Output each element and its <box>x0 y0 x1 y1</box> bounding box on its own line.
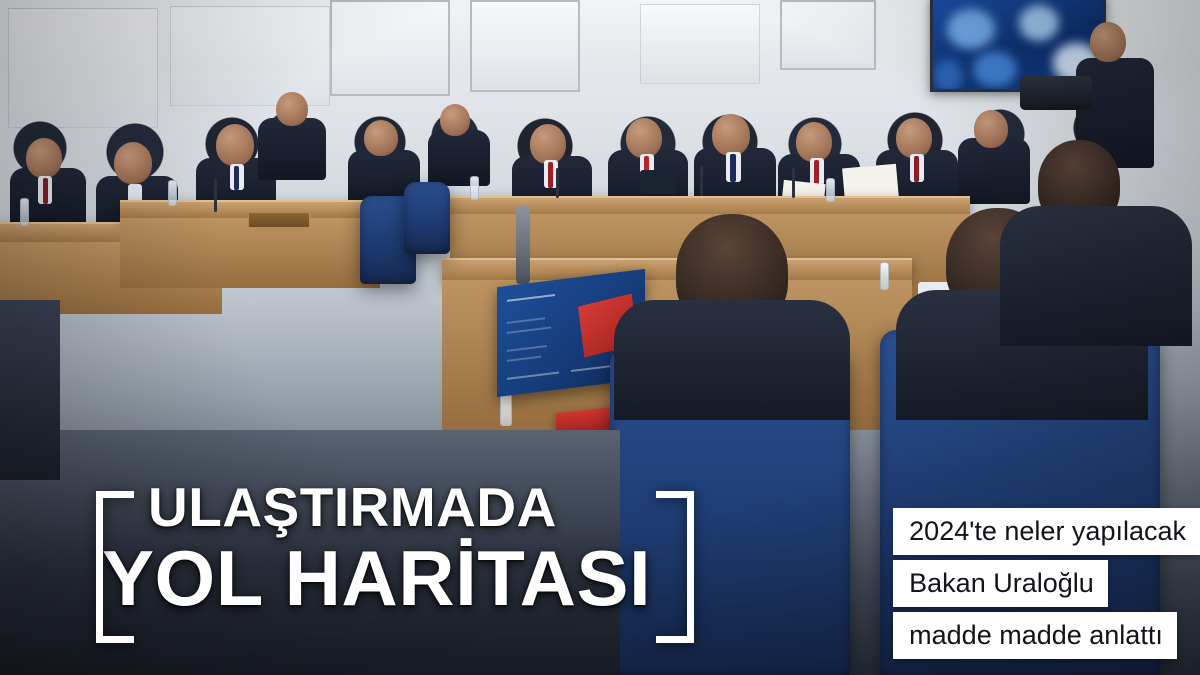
water-bottle <box>880 262 889 290</box>
caption-line-2: Bakan Uraloğlu <box>893 560 1108 607</box>
minister-tie <box>730 154 736 182</box>
video-camera <box>1020 76 1092 110</box>
bracket-left-decoration <box>96 491 134 643</box>
attendee-shoulders <box>614 300 850 420</box>
attendee-suit <box>428 130 490 186</box>
microphone <box>556 168 559 198</box>
water-bottle <box>20 198 29 226</box>
attendee-tie <box>234 166 239 190</box>
microphone <box>792 168 795 198</box>
wall-panel <box>640 4 760 84</box>
water-bottle <box>470 176 479 200</box>
microphone <box>700 166 703 196</box>
caption-line-1: 2024'te neler yapılacak <box>893 508 1200 555</box>
nameplate <box>248 212 310 228</box>
attendee-head <box>440 104 470 136</box>
window <box>780 0 876 70</box>
attendee-head <box>530 124 566 164</box>
bracket-right-decoration <box>656 491 694 643</box>
microphone-stand <box>516 206 530 284</box>
attendee-head <box>26 138 62 178</box>
attendee-tie <box>914 156 919 182</box>
attendee-head <box>626 118 662 158</box>
attendee-head <box>216 124 254 166</box>
attendee-tie <box>43 178 48 204</box>
camera-operator-head <box>1090 22 1126 62</box>
attendee-head <box>276 92 308 126</box>
attendee-tie <box>814 160 819 186</box>
attendee-head <box>974 110 1008 148</box>
caption-block: 2024'te neler yapılacak Bakan Uraloğlu m… <box>893 508 1200 659</box>
attendee-head <box>796 122 832 162</box>
headline-line-2: YOL HARİTASI <box>102 537 696 619</box>
caption-line-3: madde madde anlattı <box>893 612 1177 659</box>
attendee-tie <box>548 162 553 188</box>
water-bottle <box>168 180 177 206</box>
attendee-head <box>364 120 398 156</box>
foreground-shadow <box>0 300 60 480</box>
attendee-head <box>114 142 152 184</box>
water-bottle <box>500 392 512 426</box>
tablet-device <box>640 170 676 194</box>
chair <box>404 182 450 254</box>
desk-left-rear-panel <box>120 218 380 288</box>
attendee-shoulders <box>1000 206 1192 346</box>
attendee-head <box>896 118 932 158</box>
microphone <box>214 178 217 212</box>
headline-overlay: ULAŞTIRMADA YOL HARİTASI <box>96 477 696 667</box>
minister-head <box>712 114 750 156</box>
headline-line-1: ULAŞTIRMADA <box>148 477 696 537</box>
water-bottle <box>826 178 835 202</box>
attendee-suit <box>258 118 326 180</box>
news-image: ULAŞTIRMADA YOL HARİTASI 2024'te neler y… <box>0 0 1200 675</box>
